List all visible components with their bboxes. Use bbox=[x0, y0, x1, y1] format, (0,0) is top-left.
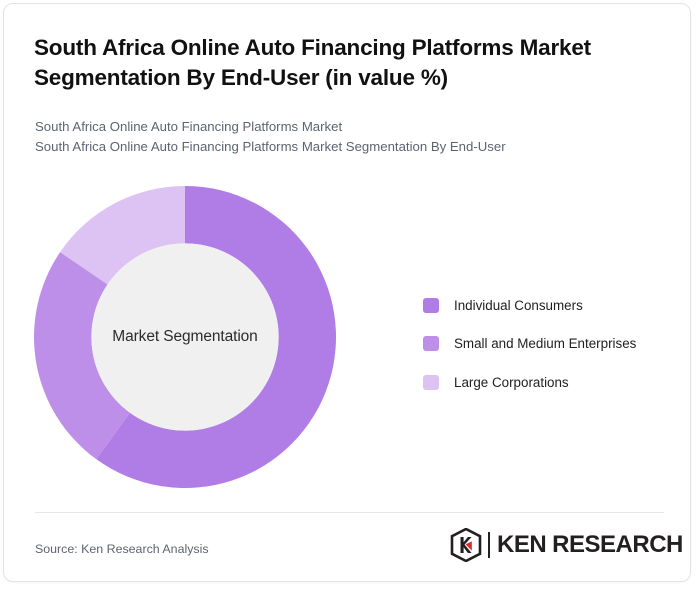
legend-swatch bbox=[423, 336, 439, 351]
chart-page: South Africa Online Auto Financing Platf… bbox=[0, 0, 700, 591]
donut-svg bbox=[34, 186, 336, 488]
donut-hole bbox=[91, 243, 278, 430]
legend-item[interactable]: Large Corporations bbox=[423, 363, 673, 402]
legend-label: Large Corporations bbox=[454, 375, 569, 390]
logo-word-ken: KEN bbox=[497, 533, 546, 557]
footer-divider bbox=[35, 512, 664, 513]
legend-item[interactable]: Small and Medium Enterprises bbox=[423, 325, 673, 364]
donut-chart: Market Segmentation bbox=[34, 186, 336, 488]
legend-swatch bbox=[423, 375, 439, 390]
ken-research-logo: KEN RESEARCH bbox=[450, 528, 683, 562]
legend-swatch bbox=[423, 298, 439, 313]
ken-research-logo-mark-icon bbox=[450, 528, 482, 562]
logo-word-research: RESEARCH bbox=[552, 533, 683, 557]
chart-legend: Individual ConsumersSmall and Medium Ent… bbox=[423, 286, 673, 402]
chart-area: Market Segmentation Individual Consumers… bbox=[4, 4, 700, 504]
logo-wordmark: KEN RESEARCH bbox=[497, 533, 683, 557]
source-note: Source: Ken Research Analysis bbox=[35, 542, 209, 556]
legend-label: Small and Medium Enterprises bbox=[454, 336, 636, 351]
legend-label: Individual Consumers bbox=[454, 298, 583, 313]
chart-card: South Africa Online Auto Financing Platf… bbox=[3, 3, 691, 582]
legend-item[interactable]: Individual Consumers bbox=[423, 286, 673, 325]
logo-divider bbox=[488, 532, 490, 558]
